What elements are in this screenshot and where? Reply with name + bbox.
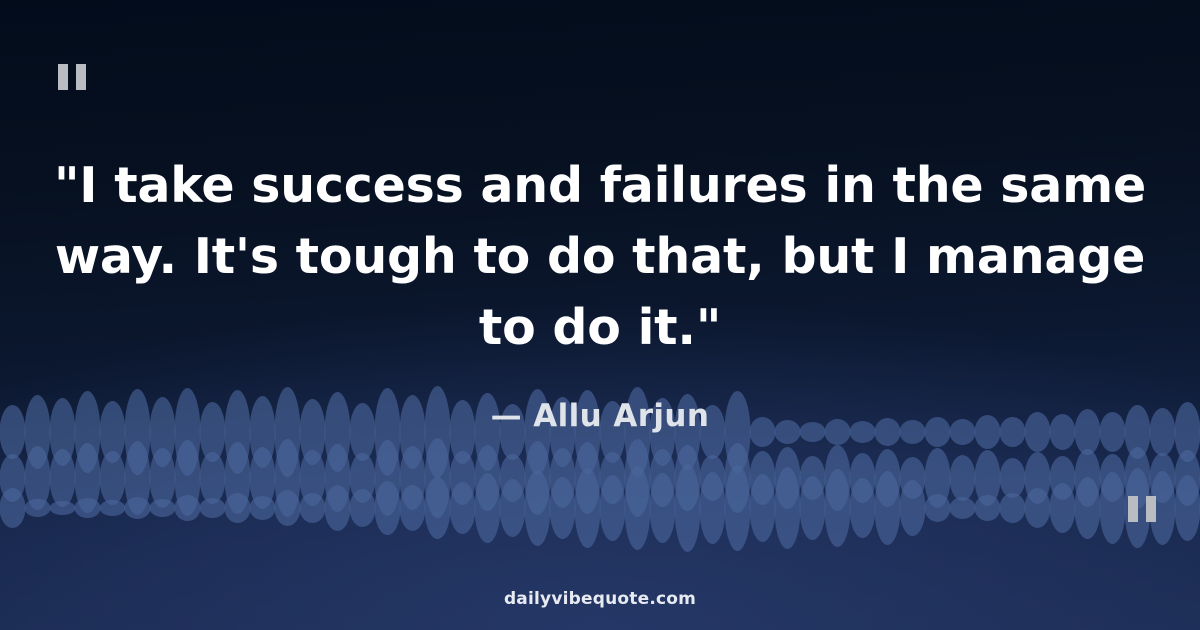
quote-mark-bar (1146, 496, 1156, 522)
quote-mark-bar (76, 64, 86, 90)
quote-mark-icon (1128, 496, 1156, 522)
site-footer: dailyvibequote.com (504, 589, 696, 609)
quote-card: "I take success and failures in the same… (0, 0, 1200, 630)
quote-mark-bar (1128, 496, 1138, 522)
quote-mark-bar (58, 64, 68, 90)
quote-attribution: — Allu Arjun (491, 398, 710, 434)
quote-text: "I take success and failures in the same… (52, 150, 1148, 363)
quote-mark-icon (58, 64, 86, 90)
